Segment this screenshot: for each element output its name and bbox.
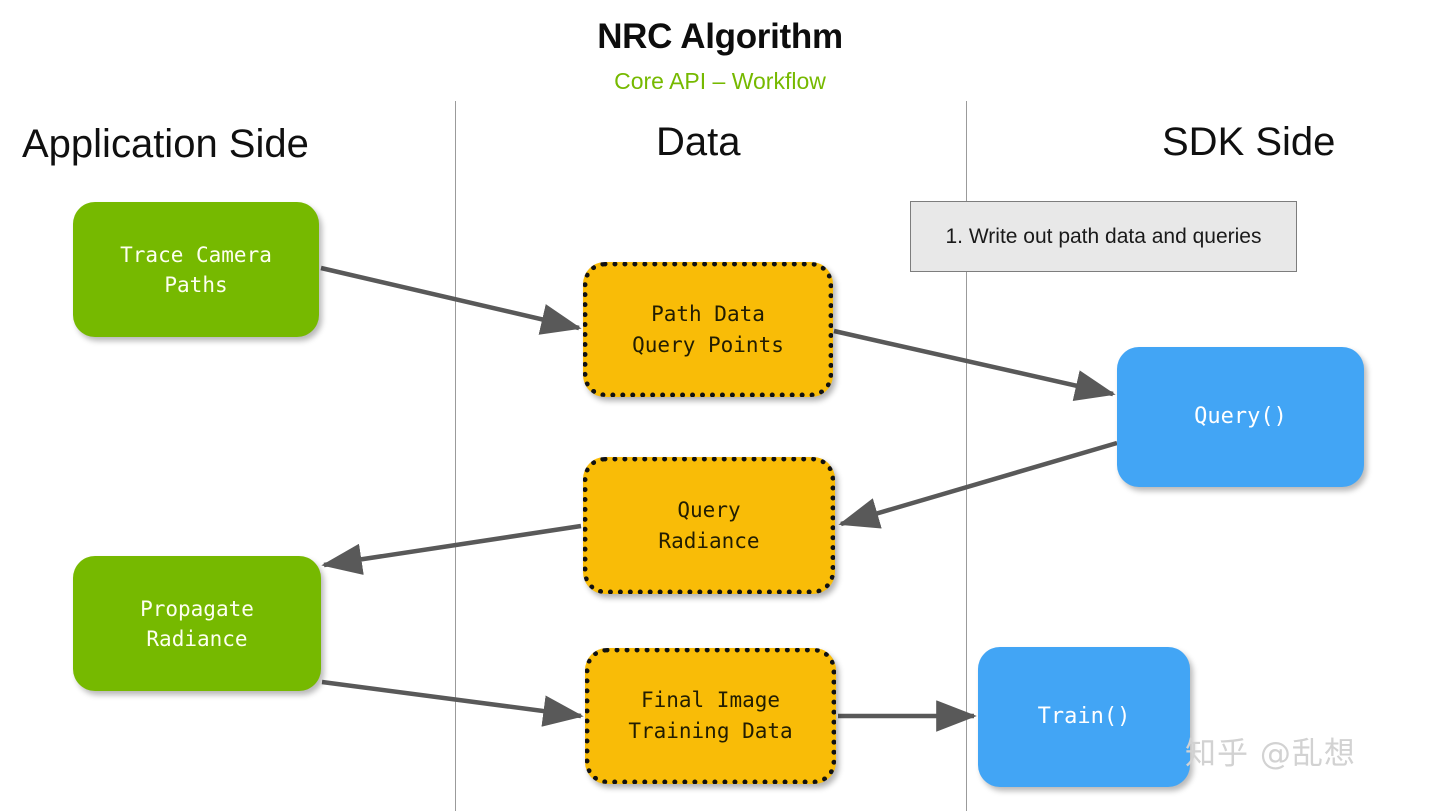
arrow-path-data-to-query	[834, 331, 1113, 394]
page-subtitle: Core API – Workflow	[0, 66, 1440, 96]
node-final-image-training-data[interactable]: Final Image Training Data	[585, 648, 836, 784]
callout-write-out-path-data: 1. Write out path data and queries	[910, 201, 1297, 272]
node-query-radiance[interactable]: Query Radiance	[583, 457, 835, 594]
arrow-trace-camera-paths-to-path-data	[321, 268, 579, 328]
column-heading-application-side: Application Side	[22, 120, 309, 168]
node-propagate-radiance[interactable]: Propagate Radiance	[73, 556, 321, 691]
node-trace-camera-paths[interactable]: Trace Camera Paths	[73, 202, 319, 337]
column-heading-data: Data	[656, 118, 741, 166]
node-query-function[interactable]: Query()	[1117, 347, 1364, 487]
column-heading-sdk-side: SDK Side	[1162, 118, 1335, 166]
node-train-function[interactable]: Train()	[978, 647, 1190, 787]
arrow-propagate-radiance-to-final-image	[322, 682, 581, 716]
watermark: 知乎 @乱想	[1185, 728, 1356, 773]
page-title: NRC Algorithm	[0, 16, 1440, 58]
arrow-query-radiance-to-propagate-radiance	[324, 526, 581, 565]
column-divider-left	[455, 101, 456, 811]
arrow-query-to-query-radiance	[841, 443, 1117, 524]
node-path-data-query-points[interactable]: Path Data Query Points	[583, 262, 833, 397]
slide-canvas: NRC Algorithm Core API – Workflow Applic…	[0, 0, 1440, 811]
